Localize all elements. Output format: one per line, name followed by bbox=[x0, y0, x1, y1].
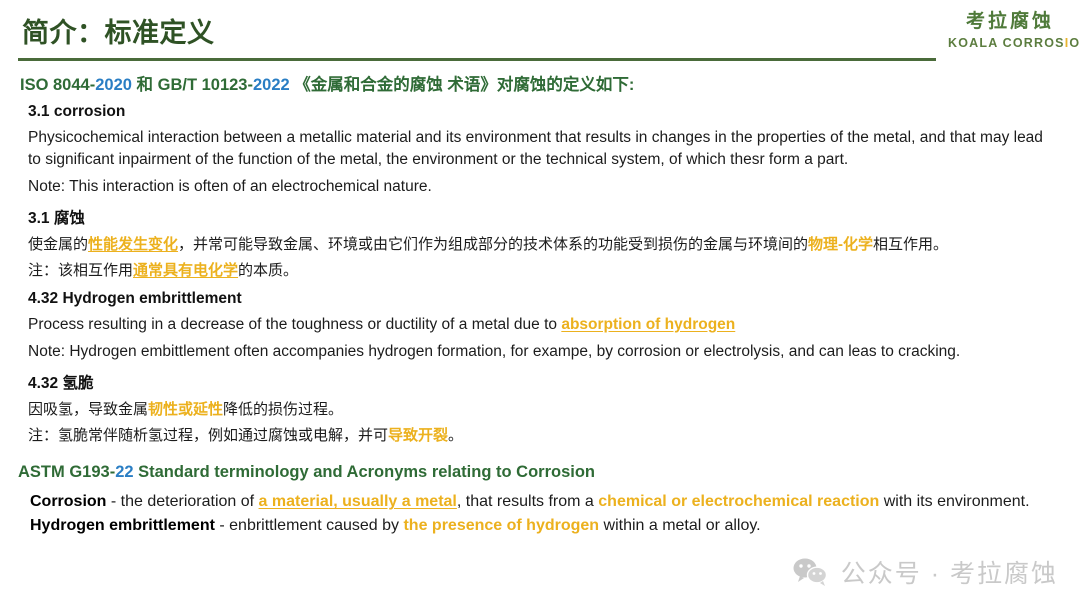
astm-definition-hydrogen-embrittlement: Hydrogen embrittlement - enbrittlement c… bbox=[0, 513, 1080, 537]
wechat-watermark: 公众号 · 考拉腐蚀 bbox=[791, 554, 1058, 590]
iso-standard-heading: ISO 8044-2020 和 GB/T 10123-2022 《金属和合金的腐… bbox=[0, 62, 1080, 95]
definition-term: 4.32 氢脆 bbox=[0, 363, 1080, 393]
text-run: - the deterioration of bbox=[106, 493, 258, 510]
highlighted-term: chemical or electrochemical reaction bbox=[598, 493, 879, 510]
brand-logo: 考拉腐蚀 KOALA CORROSION bbox=[948, 12, 1072, 50]
brand-logo-en: KOALA CORROSION bbox=[948, 37, 1072, 50]
text-run: 的本质。 bbox=[238, 262, 298, 279]
definition-body: 因吸氢，导致金属韧性或延性降低的损伤过程。 bbox=[0, 393, 1080, 420]
definition-entry: 4.32 氢脆 因吸氢，导致金属韧性或延性降低的损伤过程。 注：氢脆常伴随析氢过… bbox=[0, 363, 1080, 447]
text-run: Note: Hydrogen embittlement often accomp… bbox=[28, 343, 960, 360]
definition-term: 3.1 腐蚀 bbox=[0, 198, 1080, 228]
text-run: , that results from a bbox=[457, 493, 598, 510]
definition-note: Note: This interaction is often of an el… bbox=[0, 171, 1080, 198]
definition-entry: 3.1 腐蚀 使金属的性能发生变化，并常可能导致金属、环境或由它们作为组成部分的… bbox=[0, 198, 1080, 282]
definition-body: Process resulting in a decrease of the t… bbox=[0, 308, 1080, 336]
text-run: - enbrittlement caused by bbox=[215, 517, 404, 534]
definition-note: 注：氢脆常伴随析氢过程，例如通过腐蚀或电解，并可导致开裂。 bbox=[0, 420, 1080, 446]
highlighted-term: a material, usually a metal bbox=[259, 493, 457, 510]
definition-term: 3.1 corrosion bbox=[0, 95, 1080, 121]
wechat-icon bbox=[791, 557, 831, 587]
brand-logo-cn: 考拉腐蚀 bbox=[948, 12, 1072, 31]
definition-term: 4.32 Hydrogen embrittlement bbox=[0, 282, 1080, 308]
astm-definition-corrosion: Corrosion - the deterioration of a mater… bbox=[0, 482, 1080, 513]
astm-standard-heading: ASTM G193-22 Standard terminology and Ac… bbox=[0, 446, 1080, 482]
header-divider bbox=[18, 58, 936, 61]
text-run: 相互作用。 bbox=[873, 236, 948, 253]
slide-content: ISO 8044-2020 和 GB/T 10123-2022 《金属和合金的腐… bbox=[0, 62, 1080, 537]
brand-logo-en-post: ON bbox=[1069, 36, 1080, 50]
highlighted-term: 性能发生变化 bbox=[88, 236, 178, 253]
definition-body: Physicochemical interaction between a me… bbox=[0, 121, 1080, 171]
definition-body: 使金属的性能发生变化，并常可能导致金属、环境或由它们作为组成部分的技术体系的功能… bbox=[0, 228, 1080, 255]
iso-heading-year-1: 2020 bbox=[95, 76, 132, 94]
astm-term: Corrosion bbox=[30, 493, 106, 510]
astm-heading-pre: ASTM G193- bbox=[18, 463, 115, 481]
text-run: Note: This interaction is often of an el… bbox=[28, 178, 432, 195]
highlighted-term: 物理-化学 bbox=[808, 236, 873, 253]
text-run: Process resulting in a decrease of the t… bbox=[28, 316, 561, 333]
astm-heading-year: 22 bbox=[115, 463, 133, 481]
iso-heading-mid: 和 GB/T 10123- bbox=[132, 76, 253, 94]
highlighted-term: 通常具有电化学 bbox=[133, 262, 238, 279]
iso-heading-year-2: 2022 bbox=[253, 76, 290, 94]
text-run: with its environment. bbox=[879, 493, 1029, 510]
page-title: 简介：标准定义 bbox=[22, 11, 215, 50]
text-run: ，并常可能导致金属、环境或由它们作为组成部分的技术体系的功能受到损伤的金属与环境… bbox=[178, 236, 808, 253]
iso-entry-list: 3.1 corrosion Physicochemical interactio… bbox=[0, 95, 1080, 446]
text-run: 注：氢脆常伴随析氢过程，例如通过腐蚀或电解，并可 bbox=[28, 427, 388, 444]
text-run: 使金属的 bbox=[28, 236, 88, 253]
watermark-label: 公众号 · 考拉腐蚀 bbox=[841, 554, 1058, 590]
text-run: 降低的损伤过程。 bbox=[223, 401, 343, 418]
definition-note: Note: Hydrogen embittlement often accomp… bbox=[0, 336, 1080, 363]
highlighted-term: the presence of hydrogen bbox=[403, 517, 599, 534]
astm-term: Hydrogen embrittlement bbox=[30, 517, 215, 534]
astm-heading-post: Standard terminology and Acronyms relati… bbox=[134, 463, 595, 481]
definition-entry: 3.1 corrosion Physicochemical interactio… bbox=[0, 95, 1080, 198]
text-run: 注：该相互作用 bbox=[28, 262, 133, 279]
highlighted-term: absorption of hydrogen bbox=[561, 316, 735, 333]
iso-heading-post: 《金属和合金的腐蚀 术语》对腐蚀的定义如下: bbox=[290, 76, 635, 94]
text-run: 因吸氢，导致金属 bbox=[28, 401, 148, 418]
iso-heading-pre: ISO 8044- bbox=[20, 76, 95, 94]
definition-entry: 4.32 Hydrogen embrittlement Process resu… bbox=[0, 282, 1080, 363]
text-run: 。 bbox=[448, 427, 463, 444]
highlighted-term: 导致开裂 bbox=[388, 427, 448, 444]
definition-note: 注：该相互作用通常具有电化学的本质。 bbox=[0, 255, 1080, 281]
text-run: within a metal or alloy. bbox=[599, 517, 761, 534]
text-run: Physicochemical interaction between a me… bbox=[28, 129, 1043, 168]
slide-header: 简介：标准定义 考拉腐蚀 KOALA CORROSION bbox=[0, 0, 1080, 62]
highlighted-term: 韧性或延性 bbox=[148, 401, 223, 418]
brand-logo-en-pre: KOALA CORROS bbox=[948, 36, 1065, 50]
